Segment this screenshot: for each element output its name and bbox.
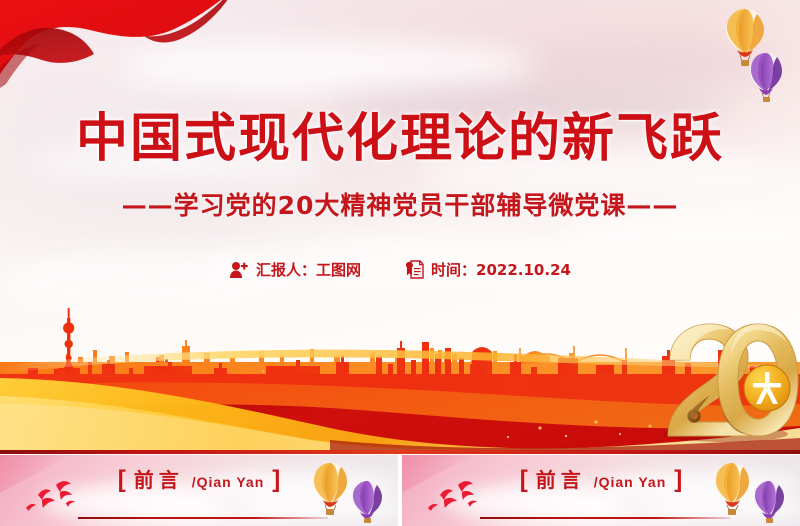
panel-title-cn: 前言 xyxy=(134,470,184,490)
slide-background: 中国式现代化理论的新飞跃 ——学习党的20大精神党员干部辅导微党课—— 汇报人：… xyxy=(0,0,800,452)
main-title: 中国式现代化理论的新飞跃 xyxy=(0,108,800,170)
presentation-slide-canvas: 中国式现代化理论的新飞跃 ——学习党的20大精神党员干部辅导微党课—— 汇报人：… xyxy=(0,0,800,526)
presenter-text: 汇报人：工图网 xyxy=(256,259,361,280)
hot-air-balloon-yellow-icon xyxy=(715,463,749,515)
panel-title-cn: 前言 xyxy=(536,470,586,490)
user-plus-icon xyxy=(229,261,249,279)
panel-underline xyxy=(78,517,328,519)
hot-air-balloon-purple-icon xyxy=(352,481,382,523)
panel-qian-yan-right[interactable]: [ 前言 /Qian Yan ] xyxy=(402,455,800,526)
certificate-ribbon-icon xyxy=(405,260,424,279)
panel-underline xyxy=(480,517,730,519)
bracket-left: [ xyxy=(520,468,528,492)
hot-air-balloon-yellow-icon xyxy=(313,463,347,515)
bracket-right: ] xyxy=(674,468,682,492)
red-silk-flag-icon xyxy=(0,0,264,116)
date-meta: 时间：2022.10.24 xyxy=(405,259,571,280)
panel-balloons xyxy=(312,459,390,526)
panel-title-en: /Qian Yan xyxy=(594,475,667,489)
hot-air-balloon-purple-icon xyxy=(754,481,784,523)
presenter-meta: 汇报人：工图网 xyxy=(229,259,361,280)
title-block: 中国式现代化理论的新飞跃 ——学习党的20大精神党员干部辅导微党课—— xyxy=(0,108,800,222)
bracket-right: ] xyxy=(272,468,280,492)
panel-qian-yan-left[interactable]: [ 前言 /Qian Yan ] xyxy=(0,455,398,526)
subtitle: ——学习党的20大精神党员干部辅导微党课—— xyxy=(0,186,800,222)
bottom-panel-row: [ 前言 /Qian Yan ] xyxy=(0,455,800,526)
bracket-left: [ xyxy=(118,468,126,492)
date-text: 时间：2022.10.24 xyxy=(431,259,571,280)
panel-title-en: /Qian Yan xyxy=(192,475,265,489)
gold-20th-congress-emblem-icon xyxy=(648,312,800,444)
divider-red-line xyxy=(0,450,800,454)
panel-balloons xyxy=(714,459,792,526)
hot-air-balloon-purple-icon xyxy=(748,52,784,107)
meta-row: 汇报人：工图网 时间：2022.10.24 xyxy=(0,259,800,280)
